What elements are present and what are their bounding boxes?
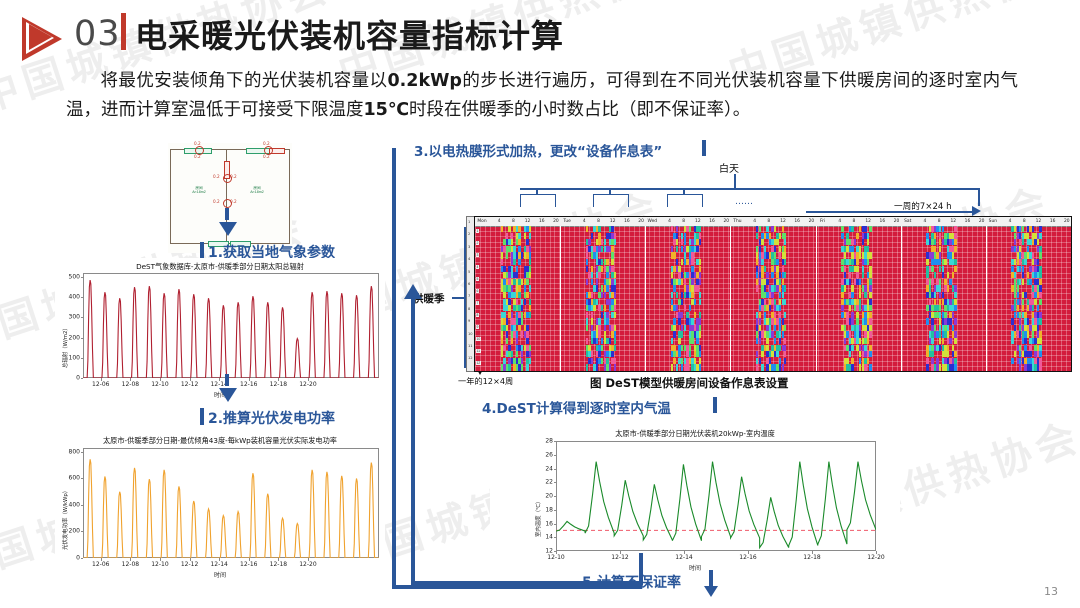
dest-schedule-cell[interactable] [779,312,781,318]
dest-schedule-cell[interactable] [696,285,698,291]
dest-schedule-cell[interactable] [851,364,853,370]
dest-schedule-cell[interactable] [1022,239,1024,245]
dest-schedule-cell[interactable] [673,325,675,331]
dest-schedule-cell[interactable] [869,266,871,272]
dest-schedule-cell[interactable] [929,299,931,305]
dest-schedule-cell[interactable] [604,239,606,245]
dest-schedule-cell[interactable] [759,246,761,252]
dest-schedule-cell[interactable] [759,338,761,344]
dest-schedule-cell[interactable] [529,252,531,258]
dest-schedule-cell[interactable] [954,226,956,232]
dest-schedule-cell[interactable] [1039,246,1041,252]
dest-schedule-cell[interactable] [764,285,766,291]
dest-schedule-cell[interactable] [526,239,528,245]
dest-schedule-cell[interactable] [849,272,851,278]
dest-schedule-cell[interactable] [529,226,531,232]
dest-schedule-cell[interactable] [1039,338,1041,344]
dest-schedule-cell[interactable] [513,325,515,331]
dest-schedule-cell[interactable] [756,285,758,291]
dest-schedule-cell[interactable] [681,299,683,305]
dest-schedule-cell[interactable] [1034,299,1036,305]
dest-schedule-cell[interactable] [774,299,776,305]
dest-schedule-cell[interactable] [598,331,600,337]
dest-schedule-cell[interactable] [926,259,928,265]
dest-schedule-cell[interactable] [591,266,593,272]
dest-schedule-cell[interactable] [841,305,843,311]
dest-schedule-cell[interactable] [859,292,861,298]
dest-schedule-cell[interactable] [699,299,701,305]
dest-schedule-cell[interactable] [1039,252,1041,258]
dest-schedule-cell[interactable] [869,279,871,285]
dest-schedule-cell[interactable] [694,312,696,318]
dest-schedule-cell[interactable] [529,266,531,272]
dest-schedule-cell[interactable] [954,233,956,239]
dest-schedule-cell[interactable] [776,259,778,265]
dest-schedule-cell[interactable] [671,226,673,232]
dest-schedule-cell[interactable] [671,272,673,278]
dest-schedule-cell[interactable] [784,312,786,318]
dest-schedule-cell[interactable] [521,305,523,311]
dest-schedule-cell[interactable] [869,252,871,258]
dest-schedule-cell[interactable] [671,364,673,370]
dest-schedule-cell[interactable] [676,364,678,370]
dest-schedule-cell[interactable] [756,364,758,370]
dest-schedule-cell[interactable] [784,239,786,245]
dest-schedule-cell[interactable] [849,279,851,285]
dest-schedule-cell[interactable] [856,272,858,278]
dest-schedule-cell[interactable] [954,338,956,344]
dest-schedule-cell[interactable] [954,318,956,324]
dest-schedule-cell[interactable] [774,226,776,232]
dest-schedule-cell[interactable] [684,325,686,331]
dest-schedule-cell[interactable] [684,233,686,239]
dest-schedule-cell[interactable] [586,259,588,265]
dest-schedule-cell[interactable] [598,325,600,331]
dest-schedule-cell[interactable] [526,325,528,331]
dest-schedule-cell[interactable] [1032,331,1034,337]
dest-schedule-cell[interactable] [844,285,846,291]
dest-schedule-cell[interactable] [529,272,531,278]
dest-schedule-cell[interactable] [591,358,593,364]
dest-schedule-cell[interactable] [869,312,871,318]
dest-schedule-cell[interactable] [506,252,508,258]
dest-schedule-cell[interactable] [689,345,691,351]
dest-schedule-cell[interactable] [769,358,771,364]
dest-schedule-cell[interactable] [844,266,846,272]
dest-schedule-cell[interactable] [934,272,936,278]
dest-schedule-cell[interactable] [673,331,675,337]
dest-schedule-cell[interactable] [869,318,871,324]
dest-schedule-cell[interactable] [586,325,588,331]
dest-schedule-cell[interactable] [699,358,701,364]
dest-schedule-cell[interactable] [596,364,598,370]
dest-schedule-cell[interactable] [944,312,946,318]
dest-schedule-cell[interactable] [784,351,786,357]
dest-schedule-cell[interactable] [529,312,531,318]
dest-schedule-cell[interactable] [764,312,766,318]
dest-schedule-cell[interactable] [776,351,778,357]
dest-schedule-cell[interactable] [614,233,616,239]
dest-schedule-cell[interactable] [954,364,956,370]
dest-schedule-cell[interactable] [524,299,526,305]
dest-schedule-cell[interactable] [511,351,513,357]
dest-schedule-cell[interactable] [1039,266,1041,272]
dest-schedule-cell[interactable] [586,338,588,344]
dest-schedule-cell[interactable] [782,279,784,285]
dest-schedule-cell[interactable] [939,252,941,258]
dest-schedule-cell[interactable] [1039,351,1041,357]
dest-schedule-cell[interactable] [586,266,588,272]
dest-schedule-cell[interactable] [759,358,761,364]
dest-schedule-cell[interactable] [526,338,528,344]
dest-schedule-cell[interactable] [1019,364,1021,370]
dest-schedule-cell[interactable] [869,305,871,311]
dest-schedule-cell[interactable] [1032,305,1034,311]
dest-schedule-cell[interactable] [598,233,600,239]
dest-schedule-cell[interactable] [1011,338,1013,344]
dest-schedule-cell[interactable] [756,351,758,357]
dest-schedule-cell[interactable] [1039,233,1041,239]
dest-schedule-cell[interactable] [1022,299,1024,305]
dest-schedule-cell[interactable] [516,272,518,278]
dest-schedule-cell[interactable] [939,279,941,285]
dest-schedule-cell[interactable] [952,345,954,351]
dest-schedule-cell[interactable] [503,345,505,351]
dest-schedule-cell[interactable] [864,364,866,370]
dest-schedule-cell[interactable] [689,226,691,232]
dest-schedule-cell[interactable] [684,279,686,285]
dest-schedule-cell[interactable] [699,233,701,239]
dest-schedule-cell[interactable] [516,338,518,344]
dest-schedule-cell[interactable] [1029,351,1031,357]
dest-schedule-cell[interactable] [673,318,675,324]
dest-schedule-cell[interactable] [851,358,853,364]
dest-schedule-cell[interactable] [784,345,786,351]
dest-schedule-cell[interactable] [1039,345,1041,351]
dest-schedule-cell[interactable] [1019,318,1021,324]
dest-schedule-cell[interactable] [1039,364,1041,370]
dest-schedule-cell[interactable] [931,358,933,364]
dest-schedule-cell[interactable] [851,345,853,351]
dest-schedule-cell[interactable] [673,345,675,351]
dest-schedule-cell[interactable] [867,358,869,364]
dest-schedule-cell[interactable] [779,338,781,344]
dest-schedule-cell[interactable] [696,338,698,344]
dest-schedule-cell[interactable] [699,239,701,245]
dest-schedule-cell[interactable] [942,292,944,298]
dest-schedule-cell[interactable] [859,299,861,305]
dest-schedule-cell[interactable] [954,266,956,272]
dest-schedule-cell[interactable] [939,233,941,239]
dest-schedule-cell[interactable] [867,233,869,239]
dest-schedule-cell[interactable] [944,279,946,285]
dest-schedule-cell[interactable] [947,351,949,357]
dest-schedule-cell[interactable] [604,331,606,337]
dest-schedule-cell[interactable] [944,259,946,265]
dest-schedule-cell[interactable] [691,318,693,324]
dest-schedule-cell[interactable] [782,226,784,232]
dest-schedule-cell[interactable] [511,233,513,239]
dest-schedule-cell[interactable] [784,325,786,331]
dest-schedule-cell[interactable] [934,233,936,239]
dest-schedule-cell[interactable] [586,318,588,324]
dest-schedule-cell[interactable] [931,318,933,324]
dest-schedule-cell[interactable] [954,285,956,291]
dest-schedule-cell[interactable] [521,351,523,357]
dest-schedule-cell[interactable] [508,305,510,311]
dest-schedule-cell[interactable] [926,318,928,324]
dest-schedule-cell[interactable] [771,331,773,337]
dest-schedule-cell[interactable] [598,226,600,232]
dest-schedule-cell[interactable] [1011,358,1013,364]
dest-schedule-cell[interactable] [942,266,944,272]
dest-schedule-cell[interactable] [774,338,776,344]
dest-schedule-cell[interactable] [774,325,776,331]
dest-schedule-cell[interactable] [1014,325,1016,331]
dest-schedule-cell[interactable] [869,226,871,232]
dest-schedule-cell[interactable] [529,358,531,364]
dest-schedule-cell[interactable] [699,331,701,337]
dest-schedule-cell[interactable] [1027,318,1029,324]
dest-schedule-cell[interactable] [1032,226,1034,232]
dest-schedule-cell[interactable] [503,358,505,364]
dest-schedule-cell[interactable] [759,312,761,318]
dest-schedule-cell[interactable] [506,325,508,331]
dest-schedule-cell[interactable] [506,318,508,324]
dest-schedule-cell[interactable] [761,272,763,278]
dest-schedule-cell[interactable] [529,233,531,239]
dest-schedule-cell[interactable] [518,325,520,331]
dest-schedule-cell[interactable] [954,299,956,305]
dest-schedule-cell[interactable] [1029,279,1031,285]
dest-schedule-cell[interactable] [947,345,949,351]
dest-schedule-cell[interactable] [699,279,701,285]
dest-schedule-cell[interactable] [614,338,616,344]
dest-schedule-cell[interactable] [766,272,768,278]
dest-schedule-cell[interactable] [586,279,588,285]
dest-schedule-cell[interactable] [954,292,956,298]
dest-schedule-cell[interactable] [678,318,680,324]
dest-schedule-cell[interactable] [508,345,510,351]
dest-schedule-cell[interactable] [521,358,523,364]
dest-schedule-cell[interactable] [601,345,603,351]
dest-schedule-cell[interactable] [774,312,776,318]
dest-schedule-cell[interactable] [671,292,673,298]
dest-schedule-cell[interactable] [503,312,505,318]
dest-schedule-cell[interactable] [854,239,856,245]
dest-schedule-cell[interactable] [849,331,851,337]
dest-schedule-cell[interactable] [952,325,954,331]
dest-schedule-cell[interactable] [611,226,613,232]
dest-schedule-cell[interactable] [769,305,771,311]
dest-schedule-cell[interactable] [939,246,941,252]
dest-schedule-cell[interactable] [1024,338,1026,344]
dest-schedule-cell[interactable] [591,279,593,285]
dest-schedule-cell[interactable] [1017,285,1019,291]
dest-schedule-cell[interactable] [856,318,858,324]
dest-schedule-cell[interactable] [521,364,523,370]
dest-schedule-cell[interactable] [759,325,761,331]
dest-schedule-cell[interactable] [949,338,951,344]
dest-schedule-cell[interactable] [856,259,858,265]
dest-schedule-cell[interactable] [764,246,766,252]
dest-schedule-cell[interactable] [1037,325,1039,331]
dest-schedule-cell[interactable] [699,259,701,265]
dest-schedule-cell[interactable] [952,252,954,258]
dest-schedule-cell[interactable] [604,292,606,298]
dest-schedule-cell[interactable] [596,252,598,258]
dest-schedule-cell[interactable] [518,292,520,298]
dest-schedule-cell[interactable] [771,272,773,278]
dest-schedule-cell[interactable] [614,285,616,291]
dest-schedule-cell[interactable] [614,305,616,311]
dest-schedule-cell[interactable] [521,318,523,324]
dest-schedule-cell[interactable] [869,331,871,337]
dest-schedule-cell[interactable] [596,299,598,305]
dest-schedule-cell[interactable] [759,318,761,324]
dest-schedule-cell[interactable] [526,364,528,370]
dest-schedule-cell[interactable] [691,259,693,265]
dest-schedule-cell[interactable] [699,318,701,324]
dest-schedule-cell[interactable] [699,272,701,278]
dest-schedule-cell[interactable] [761,259,763,265]
dest-schedule-cell[interactable] [516,331,518,337]
dest-schedule-cell[interactable] [586,312,588,318]
dest-schedule-cell[interactable] [1022,266,1024,272]
dest-schedule-cell[interactable] [942,272,944,278]
dest-schedule-cell[interactable] [934,325,936,331]
dest-schedule-cell[interactable] [761,364,763,370]
dest-schedule-cell[interactable] [501,351,503,357]
dest-schedule-cell[interactable] [513,259,515,265]
dest-schedule-cell[interactable] [869,299,871,305]
dest-schedule-cell[interactable] [784,299,786,305]
dest-schedule-cell[interactable] [1022,272,1024,278]
dest-schedule-cell[interactable] [591,292,593,298]
dest-schedule-cell[interactable] [593,305,595,311]
dest-schedule-cell[interactable] [947,325,949,331]
dest-schedule-cell[interactable] [598,272,600,278]
dest-schedule-cell[interactable] [947,331,949,337]
dest-schedule-cell[interactable] [1029,345,1031,351]
dest-schedule-cell[interactable] [926,364,928,370]
dest-schedule-cell[interactable] [849,305,851,311]
dest-schedule-cell[interactable] [954,331,956,337]
dest-schedule-cell[interactable] [1027,233,1029,239]
dest-schedule-cell[interactable] [609,338,611,344]
dest-schedule-cell[interactable] [851,246,853,252]
dest-schedule-cell[interactable] [529,299,531,305]
dest-schedule-cell[interactable] [869,272,871,278]
dest-schedule-cell[interactable] [931,338,933,344]
dest-schedule-cell[interactable] [1037,239,1039,245]
dest-schedule-cell[interactable] [784,259,786,265]
dest-schedule-cell[interactable] [671,246,673,252]
dest-schedule-cell[interactable] [1014,351,1016,357]
dest-schedule-cell[interactable] [676,226,678,232]
dest-schedule-cell[interactable] [611,246,613,252]
dest-schedule-cell[interactable] [1024,259,1026,265]
dest-schedule-cell[interactable] [1027,331,1029,337]
dest-schedule-cell[interactable] [844,252,846,258]
dest-schedule-cell[interactable] [529,285,531,291]
dest-schedule-cell[interactable] [774,246,776,252]
dest-schedule-cell[interactable] [849,351,851,357]
dest-schedule-cell[interactable] [606,358,608,364]
dest-schedule-cell[interactable] [508,299,510,305]
dest-schedule-cell[interactable] [591,233,593,239]
dest-schedule-cell[interactable] [1039,272,1041,278]
dest-schedule-cell[interactable] [524,285,526,291]
dest-schedule-cell[interactable] [671,299,673,305]
dest-schedule-cell[interactable] [591,325,593,331]
dest-schedule-cell[interactable] [766,226,768,232]
dest-schedule-cell[interactable] [696,246,698,252]
dest-schedule-cell[interactable] [1024,312,1026,318]
dest-schedule-cell[interactable] [699,312,701,318]
dest-schedule-cell[interactable] [947,272,949,278]
dest-schedule-cell[interactable] [614,331,616,337]
dest-schedule-cell[interactable] [764,266,766,272]
dest-schedule-cell[interactable] [614,299,616,305]
dest-schedule-cell[interactable] [518,239,520,245]
dest-schedule-cell[interactable] [1019,246,1021,252]
dest-schedule-cell[interactable] [954,358,956,364]
dest-schedule-cell[interactable] [776,266,778,272]
dest-schedule-table[interactable]: Mon48121620Tue48121620Wed48121620Thu4812… [474,216,1072,372]
dest-schedule-cell[interactable] [844,338,846,344]
dest-schedule-cell[interactable] [869,351,871,357]
dest-schedule-cell[interactable] [518,259,520,265]
dest-schedule-cell[interactable] [756,233,758,239]
dest-schedule-cell[interactable] [1017,305,1019,311]
dest-schedule-cell[interactable] [1014,272,1016,278]
dest-schedule-cell[interactable] [867,338,869,344]
dest-schedule-cell[interactable] [676,239,678,245]
dest-schedule-cell[interactable] [929,285,931,291]
dest-schedule-cell[interactable] [511,338,513,344]
dest-schedule-cell[interactable] [931,266,933,272]
dest-schedule-cell[interactable] [676,292,678,298]
dest-schedule-cell[interactable] [518,285,520,291]
dest-schedule-cell[interactable] [691,292,693,298]
dest-schedule-cell[interactable] [606,272,608,278]
dest-schedule-cell[interactable] [591,272,593,278]
dest-schedule-cell[interactable] [529,345,531,351]
dest-schedule-cell[interactable] [501,226,503,232]
dest-schedule-cell[interactable] [614,345,616,351]
dest-schedule-cell[interactable] [776,239,778,245]
dest-schedule-cell[interactable] [511,266,513,272]
dest-schedule-cell[interactable] [926,233,928,239]
dest-schedule-cell[interactable] [588,345,590,351]
dest-schedule-cell[interactable] [1039,331,1041,337]
dest-schedule-cell[interactable] [939,285,941,291]
dest-schedule-cell[interactable] [586,364,588,370]
dest-schedule-cell[interactable] [1037,305,1039,311]
dest-schedule-cell[interactable] [508,364,510,370]
dest-schedule-cell[interactable] [673,285,675,291]
dest-schedule-cell[interactable] [611,351,613,357]
dest-schedule-cell[interactable] [779,305,781,311]
dest-schedule-cell[interactable] [954,305,956,311]
dest-schedule-cell[interactable] [1022,226,1024,232]
dest-schedule-cell[interactable] [614,312,616,318]
dest-schedule-cell[interactable] [856,233,858,239]
dest-schedule-cell[interactable] [606,259,608,265]
dest-schedule-cell[interactable] [678,266,680,272]
dest-schedule-cell[interactable] [529,351,531,357]
